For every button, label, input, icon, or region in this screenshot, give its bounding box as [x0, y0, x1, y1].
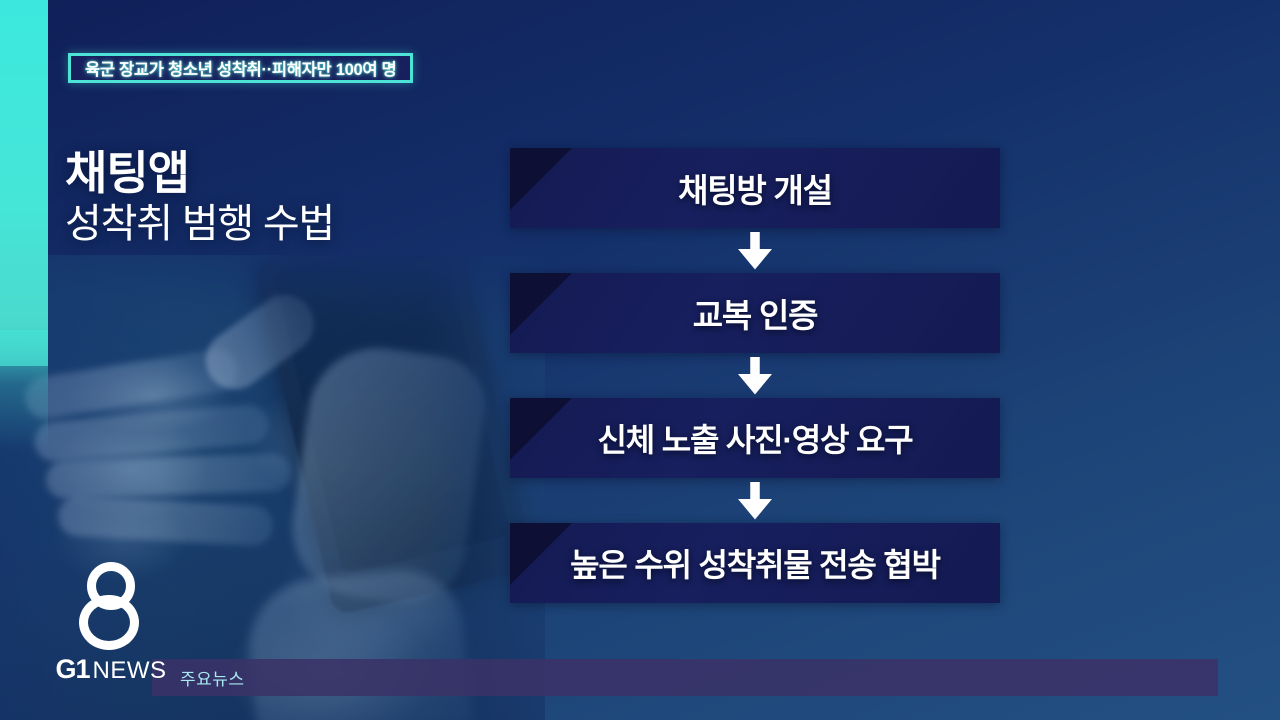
- headline-text: 육군 장교가 청소년 성착취··피해자만 100여 명: [85, 56, 396, 80]
- flow-connector: [510, 228, 1000, 273]
- flow-connector: [510, 478, 1000, 523]
- channel-number-8-icon: [74, 562, 148, 650]
- title-line-secondary: 성착취 범행 수법: [65, 200, 334, 249]
- flow-chart: 채팅방 개설 교복 인증 신체 노출 사진·영상 요구 높은 수위 성착취물 전…: [510, 148, 1000, 603]
- flow-step-label: 신체 노출 사진·영상 요구: [598, 415, 913, 461]
- flow-box: 채팅방 개설: [510, 148, 1000, 228]
- flow-step-label: 높은 수위 성착취물 전송 협박: [570, 540, 940, 586]
- flow-box: 교복 인증: [510, 273, 1000, 353]
- arrow-down-icon: [738, 357, 772, 395]
- flow-step-1: 채팅방 개설: [510, 148, 1000, 228]
- flow-step-3: 신체 노출 사진·영상 요구: [510, 398, 1000, 478]
- broadcast-graphic: 육군 장교가 청소년 성착취··피해자만 100여 명 채팅앱 성착취 범행 수…: [0, 0, 1280, 720]
- arrow-down-icon: [738, 232, 772, 270]
- cyan-accent-bar: [0, 0, 48, 366]
- cyan-accent-bar-fade: [0, 330, 48, 450]
- headline-banner: 육군 장교가 청소년 성착취··피해자만 100여 명: [68, 53, 413, 83]
- flow-step-2: 교복 인증: [510, 273, 1000, 353]
- flow-connector: [510, 353, 1000, 398]
- flow-step-4: 높은 수위 성착취물 전송 협박: [510, 523, 1000, 603]
- ticker-category-label: 주요뉴스: [180, 665, 245, 690]
- title-line-primary: 채팅앱: [65, 148, 334, 200]
- flow-box: 신체 노출 사진·영상 요구: [510, 398, 1000, 478]
- logo-g1-text: G1: [55, 654, 89, 685]
- station-wordmark: G1 NEWS: [55, 654, 166, 685]
- arrow-down-icon: [738, 482, 772, 520]
- news-ticker-bar: 주요뉴스: [152, 659, 1218, 696]
- flow-box: 높은 수위 성착취물 전송 협박: [510, 523, 1000, 603]
- station-logo: G1 NEWS: [52, 562, 170, 685]
- page-title: 채팅앱 성착취 범행 수법: [65, 148, 334, 248]
- flow-step-label: 교복 인증: [693, 289, 818, 337]
- flow-step-label: 채팅방 개설: [678, 164, 832, 212]
- logo-news-text: NEWS: [93, 657, 167, 685]
- logo-ring-bottom: [79, 595, 139, 650]
